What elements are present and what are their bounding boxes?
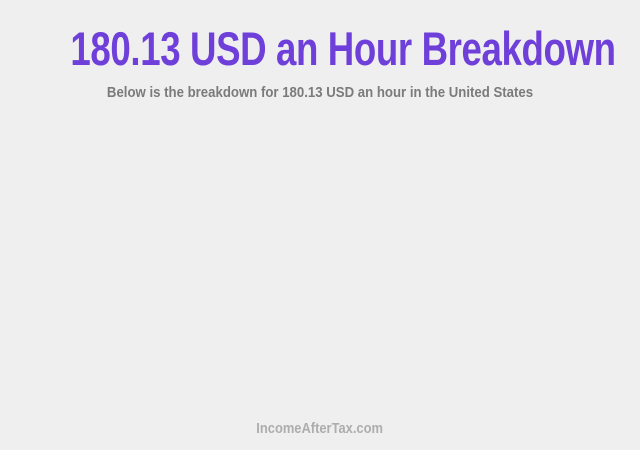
breakdown-page: 180.13 USD an Hour Breakdown Below is th… [0, 0, 640, 450]
site-watermark: IncomeAfterTax.com [257, 420, 384, 438]
page-subtitle: Below is the breakdown for 180.13 USD an… [38, 84, 601, 102]
breakdown-content-area [0, 118, 640, 408]
page-title: 180.13 USD an Hour Breakdown [70, 24, 569, 74]
page-footer: IncomeAfterTax.com [0, 420, 640, 438]
